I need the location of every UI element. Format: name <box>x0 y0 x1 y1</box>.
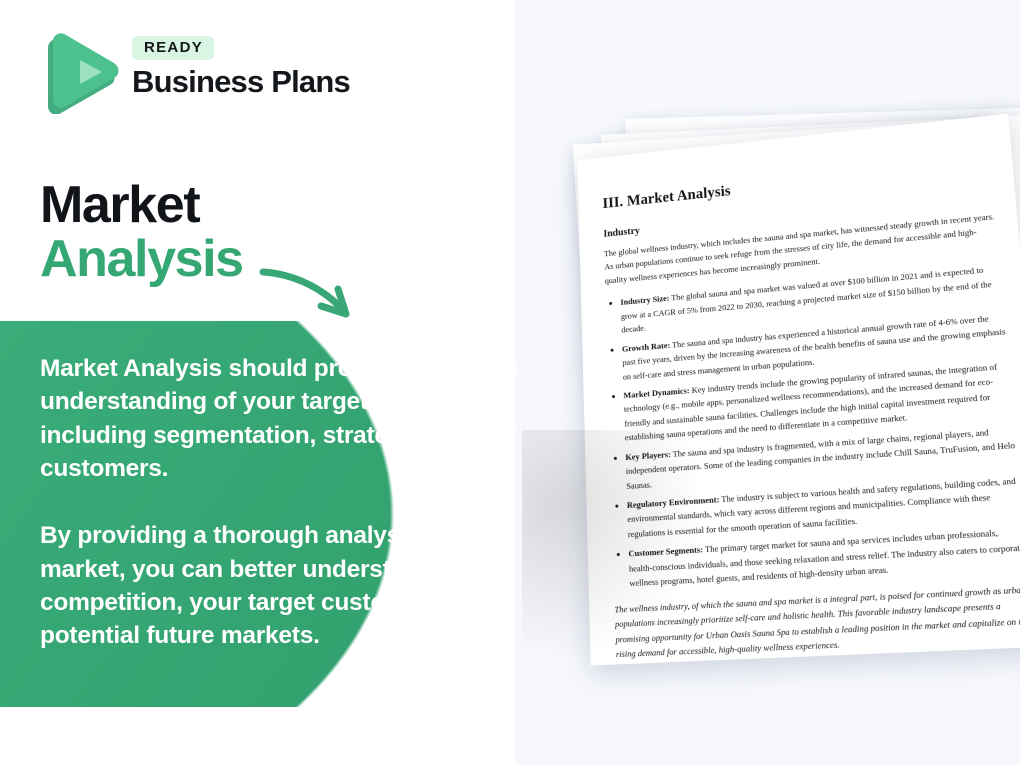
panel-paragraph-1: Market Analysis should provide a detaile… <box>40 352 560 485</box>
page-title: Market Analysis <box>40 178 460 286</box>
document-bullet-label: Key Players: <box>625 449 671 462</box>
panel-copy: Market Analysis should provide a detaile… <box>40 352 560 653</box>
document-bullet-label: Growth Rate: <box>622 340 671 354</box>
panel-paragraph-2: By providing a thorough analysis of your… <box>40 519 560 652</box>
document-bullet-label: Industry Size: <box>620 293 669 307</box>
document-stack[interactable]: growth in recent years. As urban populat… <box>520 95 1020 665</box>
document-bullet-label: Market Dynamics: <box>623 385 689 400</box>
curved-arrow-down-right-icon <box>258 262 368 324</box>
brand-logo[interactable]: READY Business Plans <box>40 32 380 122</box>
document-bullet-label: Regulatory Environment: <box>627 494 720 510</box>
document-closing: The wellness industry, of which the saun… <box>614 581 1020 661</box>
document-bullet-label: Customer Segments: <box>628 544 703 558</box>
document-body: III. Market Analysis Industry The global… <box>602 156 1020 666</box>
slide-canvas: READY Business Plans Market Analysis Mar… <box>0 0 1020 765</box>
ready-badge: READY <box>132 36 214 60</box>
brand-name: Business Plans <box>132 65 350 99</box>
target-market-heading: Target Market <box>617 662 1020 666</box>
play-triangle-logo-icon <box>40 32 122 114</box>
brand-logo-text: READY Business Plans <box>132 36 350 99</box>
front-document-page[interactable]: III. Market Analysis Industry The global… <box>577 114 1020 666</box>
page-title-line1: Market <box>40 178 460 232</box>
document-bullet-list: Industry Size: The global sauna and spa … <box>605 262 1020 592</box>
front-sheet-wrapper: III. Market Analysis Industry The global… <box>562 117 1010 637</box>
page-title-line2: Analysis <box>40 232 460 286</box>
